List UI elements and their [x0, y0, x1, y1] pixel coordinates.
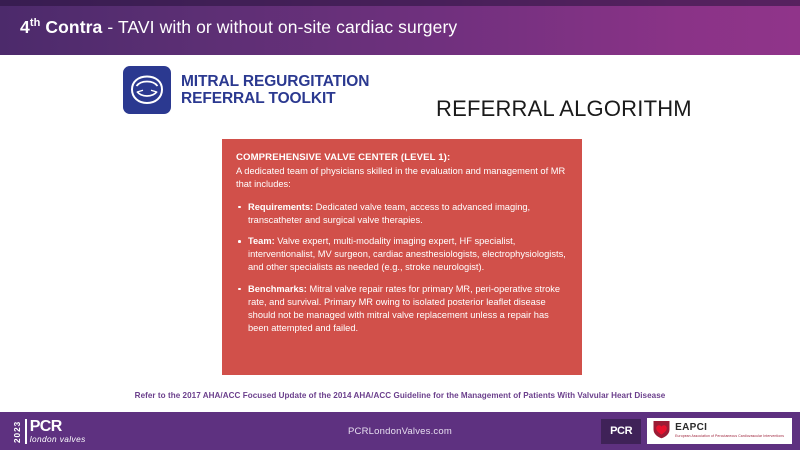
- bullet-label-benchmarks: Benchmarks:: [248, 284, 307, 294]
- toolkit-wordmark: MITRAL REGURGITATION REFERRAL TOOLKIT: [181, 73, 369, 108]
- mitral-valve-icon: [123, 66, 171, 114]
- bullet-text-team: Valve expert, multi-modality imaging exp…: [248, 236, 566, 272]
- bullet-label-team: Team:: [248, 236, 275, 246]
- bullet-label-requirements: Requirements:: [248, 202, 313, 212]
- mitral-toolkit-logo: MITRAL REGURGITATION REFERRAL TOOLKIT: [123, 66, 369, 114]
- header-top-strip: [0, 0, 800, 6]
- card-subheading: A dedicated team of physicians skilled i…: [236, 165, 568, 191]
- guideline-reference-text: Refer to the 2017 AHA/ACC Focused Update…: [0, 391, 800, 400]
- toolkit-line-2: REFERRAL TOOLKIT: [181, 90, 369, 107]
- card-heading: COMPREHENSIVE VALVE CENTER (LEVEL 1):: [236, 151, 568, 164]
- title-ordinal: th: [30, 17, 41, 29]
- page-title: 4th Contra - TAVI with or without on-sit…: [20, 17, 457, 38]
- toolkit-line-1: MITRAL REGURGITATION: [181, 73, 369, 90]
- eapci-badge: EAPCI European Association of Percutaneo…: [647, 418, 792, 444]
- logo-brand: PCR: [30, 419, 86, 434]
- pcr-badge: PCR: [601, 419, 641, 444]
- referral-algorithm-title: REFERRAL ALGORITHM: [436, 96, 692, 122]
- title-number: 4: [20, 17, 30, 37]
- title-keyword: Contra: [45, 17, 102, 37]
- logo-wordmark: PCR london valves: [30, 419, 86, 444]
- heart-shield-icon: [652, 419, 671, 444]
- list-item: Team: Valve expert, multi-modality imagi…: [236, 235, 568, 275]
- list-item: Benchmarks: Mitral valve repair rates fo…: [236, 283, 568, 336]
- eapci-text-block: EAPCI European Association of Percutaneo…: [675, 423, 784, 438]
- eapci-name: EAPCI: [675, 423, 784, 433]
- comprehensive-valve-center-card: COMPREHENSIVE VALVE CENTER (LEVEL 1): A …: [222, 139, 582, 375]
- title-rest: - TAVI with or without on-site cardiac s…: [102, 17, 457, 37]
- slide-footer: 2023 PCR london valves PCRLondonValves.c…: [0, 412, 800, 450]
- footer-logos: PCR EAPCI European Association of Percut…: [601, 418, 792, 444]
- logo-brand-sub: london valves: [30, 435, 86, 443]
- logo-divider: [25, 419, 27, 444]
- pcr-london-valves-logo: 2023 PCR london valves: [14, 419, 86, 444]
- footer-url[interactable]: PCRLondonValves.com: [348, 426, 452, 437]
- logo-year: 2023: [14, 419, 22, 444]
- card-bullet-list: Requirements: Dedicated valve team, acce…: [236, 201, 568, 336]
- list-item: Requirements: Dedicated valve team, acce…: [236, 201, 568, 227]
- slide-header: 4th Contra - TAVI with or without on-sit…: [0, 0, 800, 55]
- eapci-subtitle: European Association of Percutaneous Car…: [675, 435, 784, 438]
